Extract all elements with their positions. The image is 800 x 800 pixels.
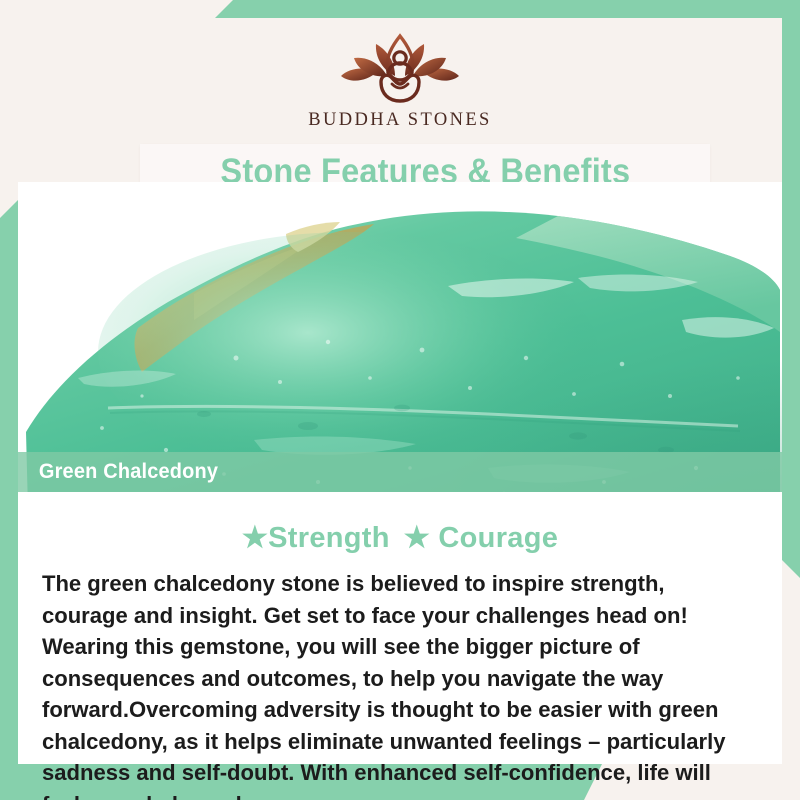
keyword-strength: ★Strength	[242, 522, 390, 554]
decorative-border-top	[215, 0, 800, 18]
brand-header: BUDDHA STONES	[18, 18, 782, 144]
description-paragraph: The green chalcedony stone is believed t…	[40, 568, 749, 800]
decorative-border-right	[782, 0, 800, 578]
photo-caption-band: Green Chalcedony	[18, 452, 782, 492]
keyword-courage: ★ Courage	[404, 522, 558, 554]
decorative-border-left	[0, 200, 18, 800]
stone-name-label: Green Chalcedony	[18, 460, 218, 484]
lotus-meditation-icon	[325, 32, 475, 108]
poster-canvas: BUDDHA STONES Stone Features & Benefits	[0, 0, 800, 800]
brand-name: BUDDHA STONES	[308, 110, 492, 131]
description-section: ★Strength★ Courage The green chalcedony …	[18, 492, 782, 764]
keyword-row: ★Strength★ Courage	[40, 520, 760, 555]
content-card: BUDDHA STONES Stone Features & Benefits	[18, 18, 782, 764]
